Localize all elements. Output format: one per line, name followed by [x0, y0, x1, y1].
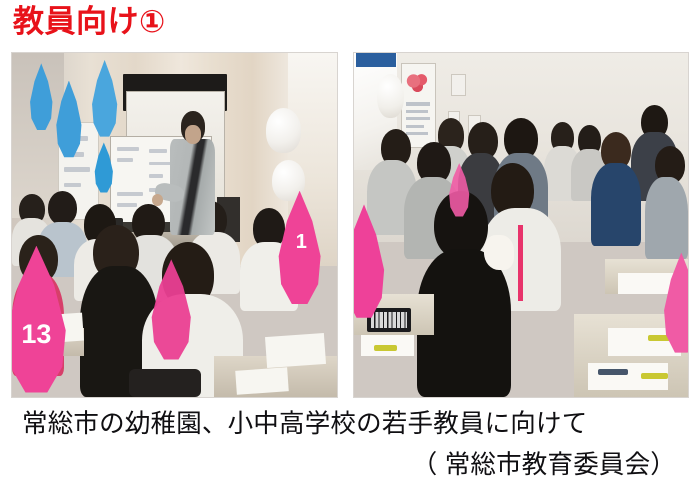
slide-caption: 常総市の幼稚園、小中高学校の若手教員に向けて （ 常総市教育委員会）	[0, 403, 700, 492]
presenter-hand	[152, 194, 163, 206]
marker-pen	[374, 345, 397, 351]
presentation-slide: 教員向け①	[0, 0, 700, 492]
handout-paper	[235, 368, 289, 396]
light-switch-panel	[451, 74, 466, 97]
audience-listening-photo	[354, 53, 688, 397]
calculator-keys	[371, 312, 407, 328]
caption-line-2: （ 常総市教育委員会）	[412, 450, 676, 480]
pink-drop-number: 1	[282, 232, 321, 252]
audience-shoulders	[645, 177, 688, 260]
caption-line-1: 常総市の幼稚園、小中高学校の若手教員に向けて	[22, 409, 587, 439]
balloon-decoration	[377, 74, 404, 119]
pen	[598, 369, 628, 375]
window-frame-top	[356, 53, 396, 67]
audience-shoulders	[591, 163, 641, 246]
lanyard	[518, 225, 523, 301]
presenter-face	[185, 125, 201, 144]
page-title: 教員向け①	[13, 2, 166, 42]
pink-drop-number: 13	[12, 321, 64, 348]
handkerchief	[484, 235, 514, 269]
poster-artwork	[406, 71, 431, 96]
audience-head	[48, 191, 77, 225]
balloon-decoration	[266, 108, 302, 153]
classroom-lecture-photo: 13 1	[12, 53, 337, 397]
handout-paper	[264, 333, 325, 368]
marker-pen	[641, 373, 668, 379]
chair	[129, 369, 201, 397]
